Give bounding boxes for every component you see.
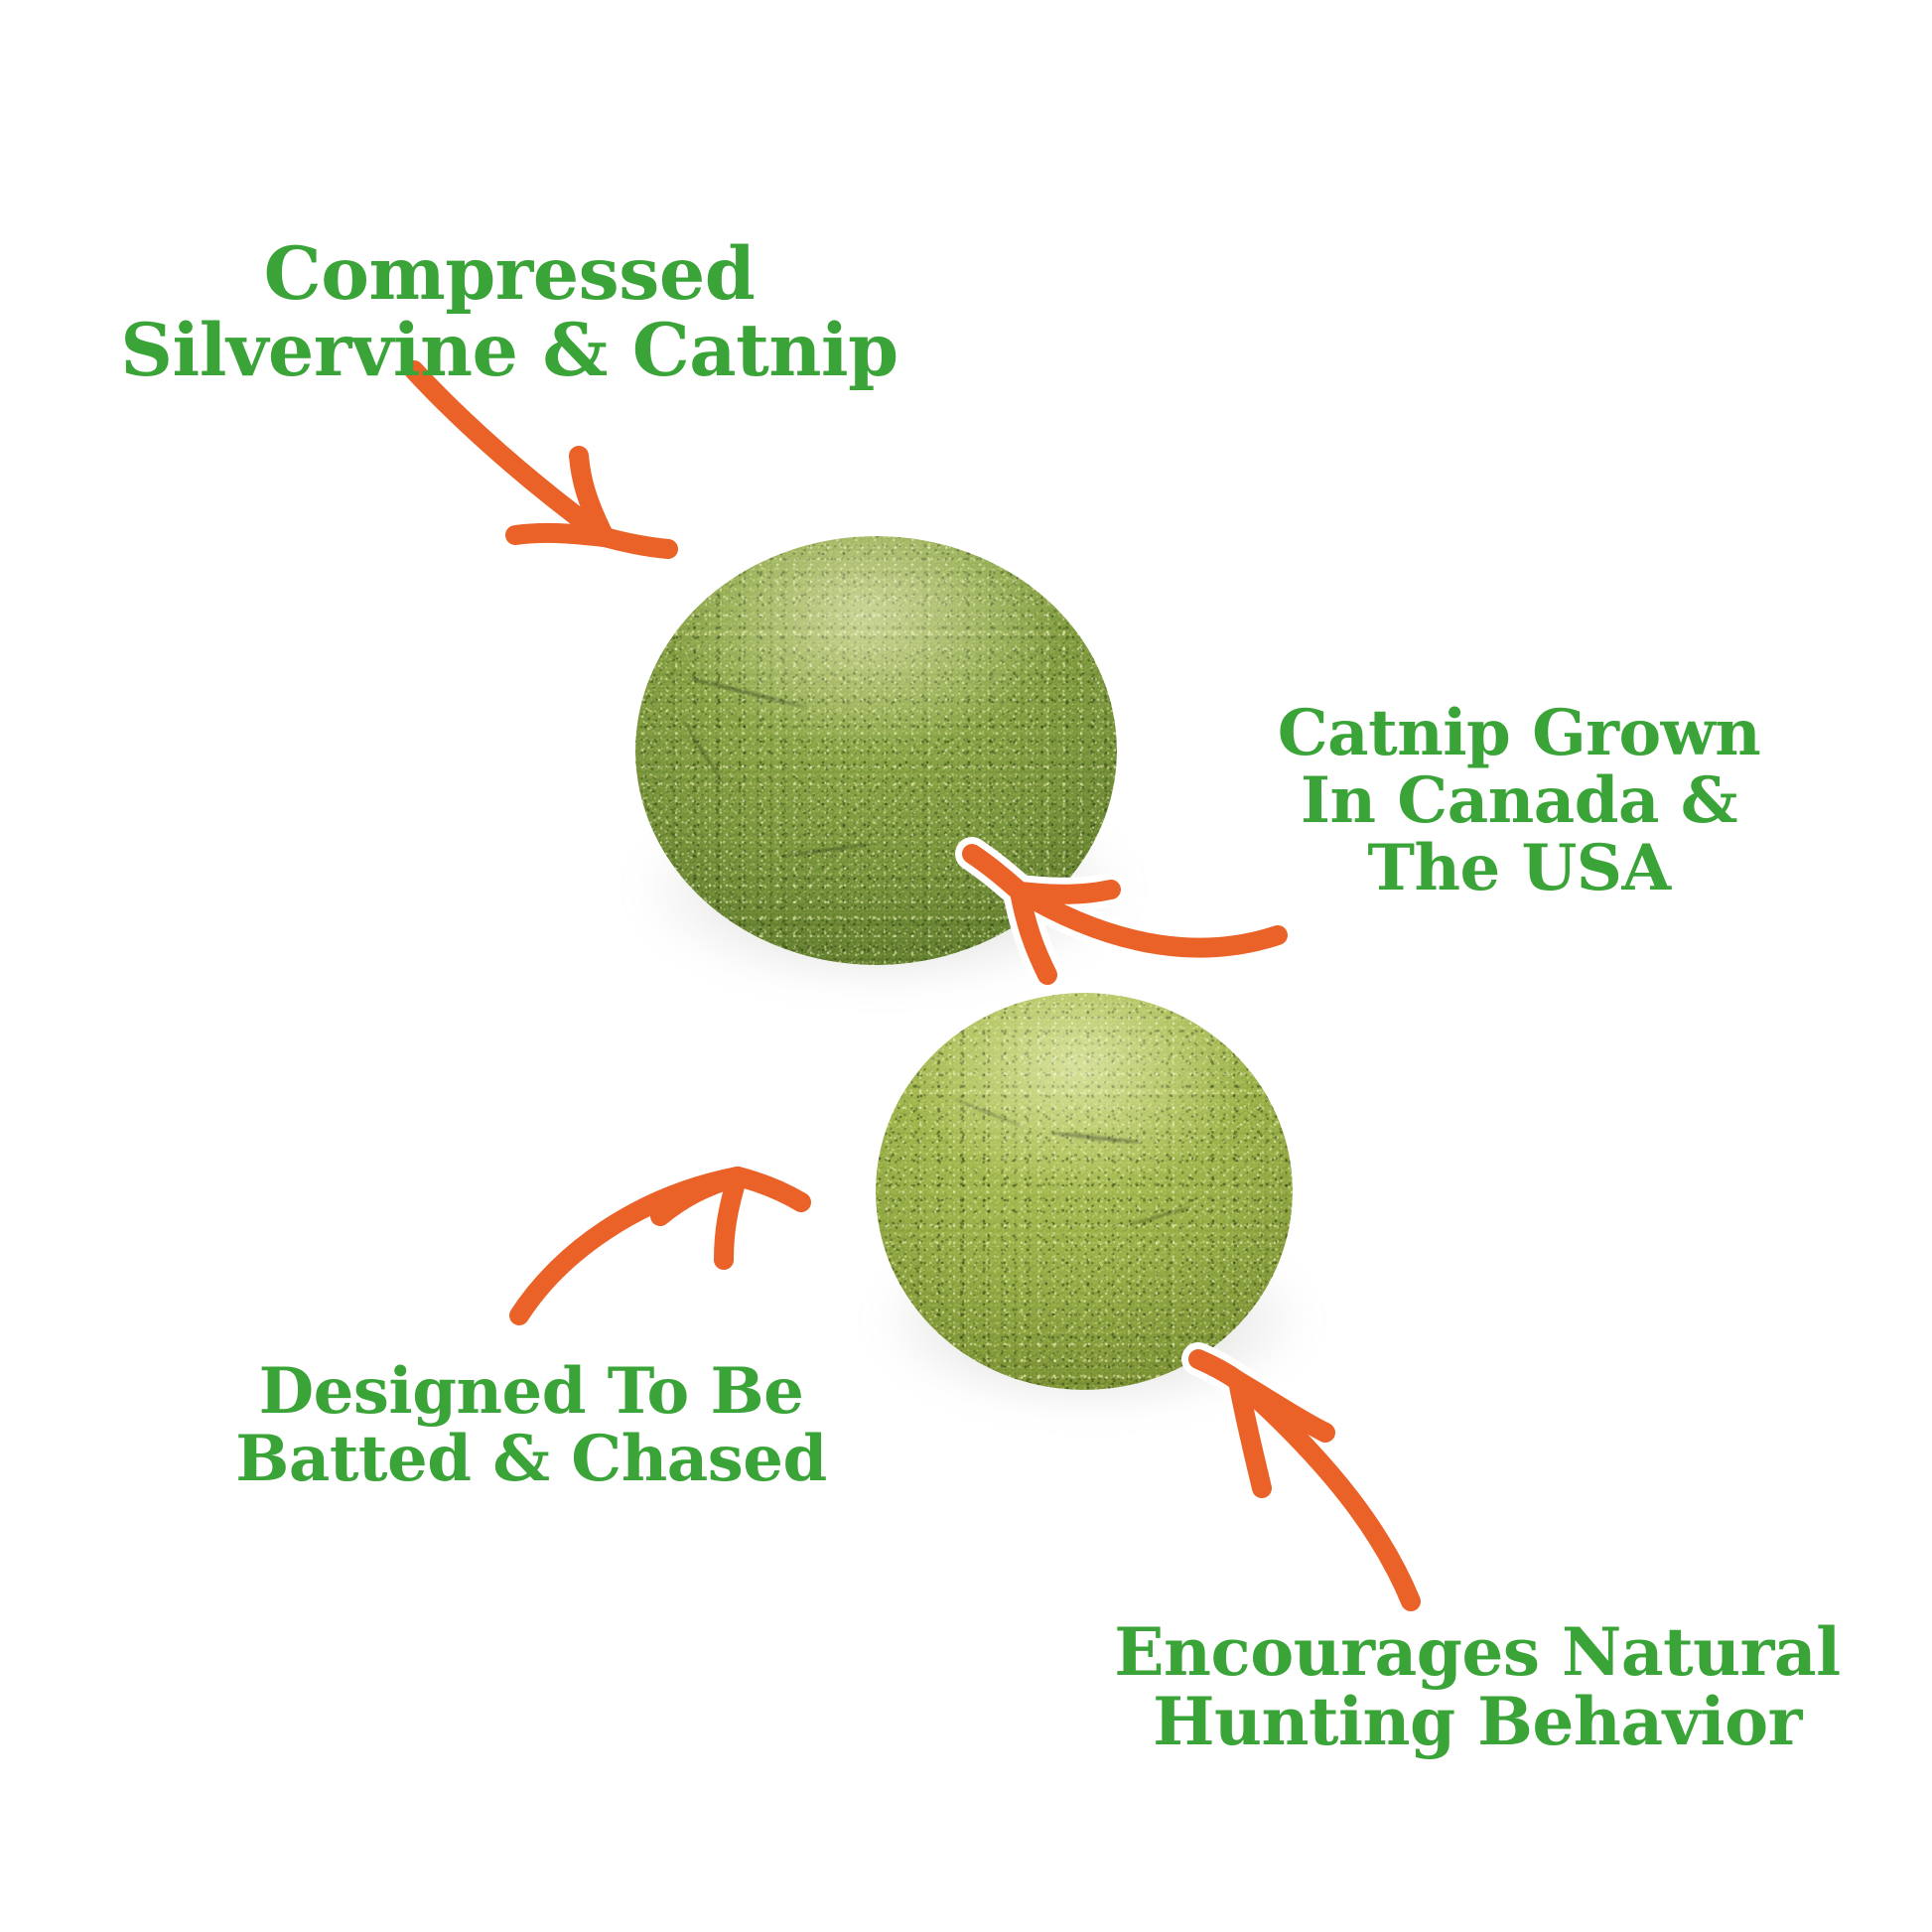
- callout-compressed-silvervine-catnip: Compressed Silvervine & Catnip: [97, 236, 921, 390]
- product-image-top-ball: [635, 536, 1117, 965]
- infographic-canvas: Compressed Silvervine & Catnip Catnip Gr…: [0, 0, 1932, 1932]
- arrow-to-bottom-ball-left: [491, 1147, 829, 1345]
- callout-designed-batted-chased: Designed To Be Batted & Chased: [119, 1358, 943, 1493]
- callout-encourages-hunting-behavior: Encourages Natural Hunting Behavior: [1050, 1618, 1904, 1757]
- callout-catnip-grown-canada-usa: Catnip Grown In Canada & The USA: [1162, 700, 1876, 901]
- product-image-bottom-ball: [876, 993, 1293, 1390]
